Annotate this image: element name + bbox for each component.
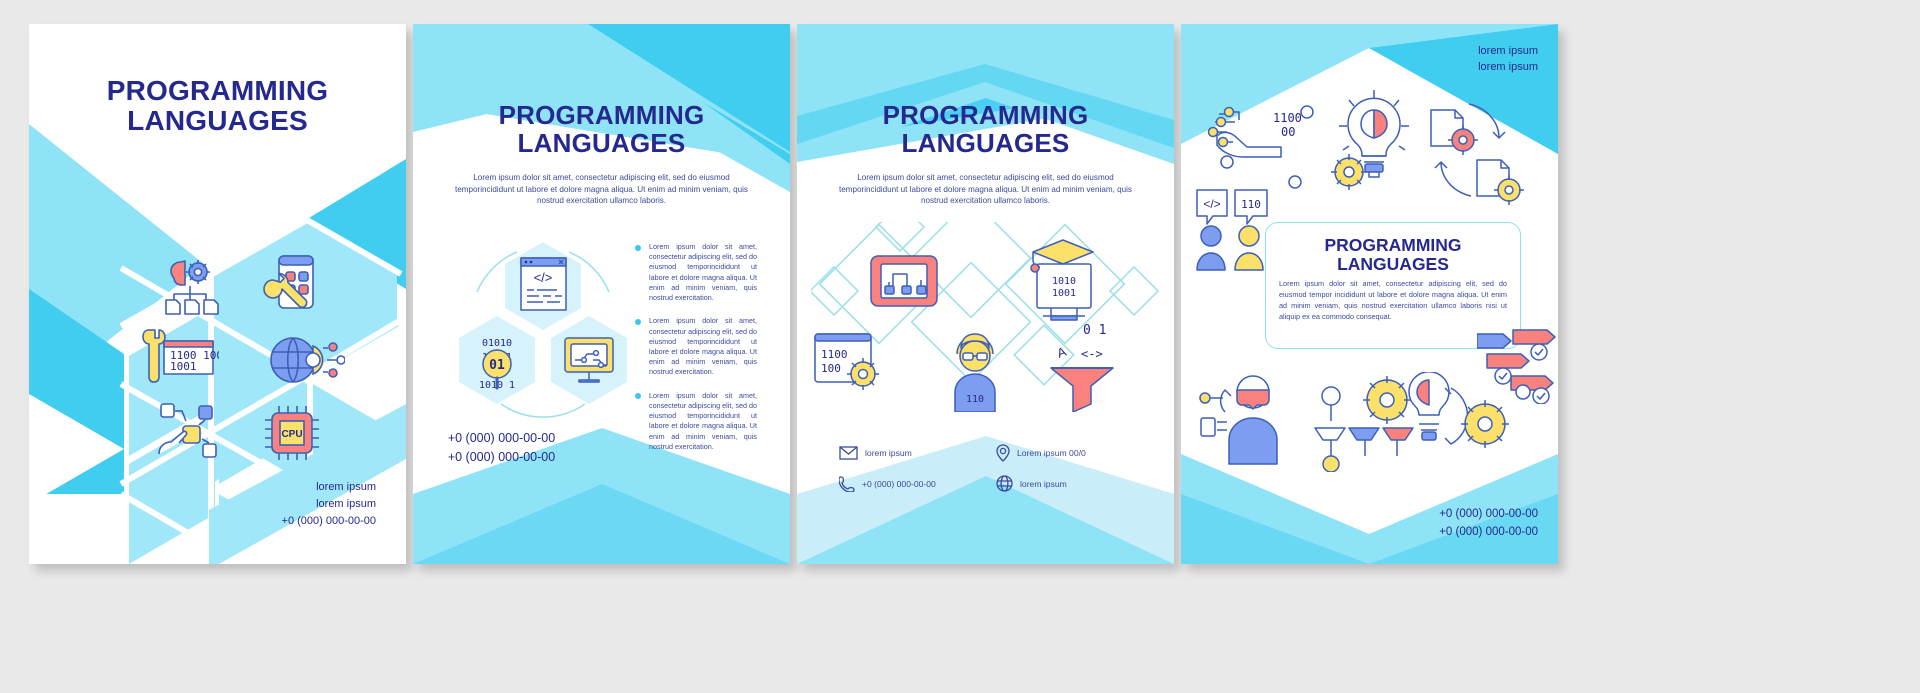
contact-address-label: Lorem ipsum 00/0 — [1017, 448, 1086, 458]
card-title: PROGRAMMING LANGUAGES — [1276, 236, 1510, 273]
lead-paragraph: Lorem ipsum dolor sit amet, consectetur … — [835, 172, 1136, 207]
panel-contacts[interactable]: PROGRAMMING LANGUAGES Lorem ipsum dolor … — [797, 24, 1174, 564]
card-title-line-2: LANGUAGES — [1337, 254, 1449, 274]
card-footer: +0 (000) 000-00-00 +0 (000) 000-00-00 — [1439, 506, 1538, 542]
globe-gear-icon — [267, 332, 345, 390]
page-title: PROGRAMMING LANGUAGES — [29, 76, 406, 135]
list-item: Lorem ipsum dolor sit amet, consectetur … — [635, 242, 757, 303]
title-line-2: LANGUAGES — [902, 128, 1070, 158]
binary-monitor-2: 1001 — [1052, 288, 1076, 299]
panel-cover[interactable]: PROGRAMMING LANGUAGES — [29, 24, 406, 564]
panel-bullets[interactable]: PROGRAMMING LANGUAGES Lorem ipsum dolor … — [413, 24, 790, 564]
title-line-1: PROGRAMMING — [107, 75, 329, 106]
cpu-label: CPU — [281, 429, 302, 440]
footer-line-2: lorem ipsum — [282, 496, 376, 513]
contact-phone[interactable]: +0 (000) 000-00-00 — [839, 475, 982, 492]
lead-paragraph: Lorem ipsum dolor sit amet, consectetur … — [451, 172, 752, 207]
brochure-sheet: PROGRAMMING LANGUAGES — [0, 0, 1920, 693]
contact-website-label: lorem ipsum — [1020, 479, 1067, 489]
title-line-2: LANGUAGES — [127, 105, 308, 136]
phone-numbers: +0 (000) 000-00-00 +0 (000) 000-00-00 — [413, 429, 690, 467]
top-note-line-1: lorem ipsum — [1478, 44, 1538, 60]
top-note-line-2: lorem ipsum — [1478, 60, 1538, 76]
top-note: lorem ipsum lorem ipsum — [1478, 44, 1538, 76]
bullet-dot-icon — [635, 245, 641, 251]
funnel-binary-label: 0 1 — [1083, 323, 1106, 338]
hex-trio-diagram: </> 01010 10 01 1010 1 01 — [453, 234, 633, 419]
binary-left-2: 100 — [821, 362, 841, 375]
binary-line-2: 1001 — [170, 360, 197, 373]
footer-phone-2: +0 (000) 000-00-00 — [1439, 524, 1538, 542]
list-item: Lorem ipsum dolor sit amet, consectetur … — [635, 316, 757, 377]
footer-phone-1: +0 (000) 000-00-00 — [1439, 506, 1538, 524]
diamond-icon-grid: 1010 1001 1100 100 — [811, 222, 1161, 412]
bullet-dot-icon — [635, 319, 641, 325]
svg-text:01010: 01010 — [482, 338, 512, 349]
contact-email[interactable]: lorem ipsum — [839, 444, 982, 462]
footer-phone: +0 (000) 000-00-00 — [282, 513, 376, 530]
binary-left-1: 1100 — [821, 348, 848, 361]
footer-line-1: lorem ipsum — [282, 479, 376, 496]
list-item-text: Lorem ipsum dolor sit amet, consectetur … — [649, 316, 757, 376]
contact-address[interactable]: Lorem ipsum 00/0 — [996, 444, 1139, 462]
hand-binary-label-1: 1100 — [1273, 111, 1302, 125]
brain-bulb-gear-icon — [1407, 372, 1537, 467]
map-pin-icon — [996, 444, 1010, 462]
contact-email-label: lorem ipsum — [865, 448, 912, 458]
panel-card[interactable]: lorem ipsum lorem ipsum 1100 00 — [1181, 24, 1558, 564]
bullet-dot-icon — [635, 393, 641, 399]
cover-footer: lorem ipsum lorem ipsum +0 (000) 000-00-… — [282, 479, 376, 530]
phone-2: +0 (000) 000-00-00 — [413, 448, 690, 467]
click-flowchart-icon — [157, 402, 227, 464]
page-title: PROGRAMMING LANGUAGES — [413, 102, 790, 157]
funnel-a-label: A — [1055, 344, 1069, 361]
cpu-chip-icon: CPU — [261, 402, 323, 464]
contact-website[interactable]: lorem ipsum — [996, 475, 1139, 492]
contact-phone-label: +0 (000) 000-00-00 — [862, 479, 936, 489]
contact-block: lorem ipsum Lorem ipsum 00/0 +0 (000) 00… — [839, 444, 1139, 492]
mobile-wrench-icon — [257, 252, 319, 318]
title-line-2: LANGUAGES — [518, 128, 686, 158]
binary-bubble-label: 110 — [1241, 198, 1261, 211]
svg-text:01: 01 — [489, 358, 505, 373]
globe-icon — [996, 475, 1013, 492]
vr-user-icon — [1195, 364, 1315, 469]
page-title: PROGRAMMING LANGUAGES — [797, 102, 1174, 157]
wrench-binary-icon: 1100 1001 1001 — [137, 324, 219, 386]
card-body: Lorem ipsum dolor sit amet, consectetur … — [1279, 279, 1507, 323]
list-item-text: Lorem ipsum dolor sit amet, consectetur … — [649, 242, 757, 302]
funnel-arrow-label: <-> — [1081, 347, 1103, 361]
phone-1: +0 (000) 000-00-00 — [413, 429, 690, 448]
avatar-binary-label: 110 — [966, 394, 984, 405]
hand-binary-label-2: 00 — [1281, 125, 1295, 139]
envelope-icon — [839, 446, 858, 460]
gear-nodes-icon — [1309, 372, 1419, 472]
brain-gear-icon — [157, 256, 223, 318]
title-line-1: PROGRAMMING — [499, 100, 705, 130]
code-bubble-label: </> — [1203, 197, 1220, 211]
phone-icon — [839, 475, 855, 492]
code-glyph: </> — [534, 270, 553, 285]
title-line-1: PROGRAMMING — [883, 100, 1089, 130]
card-title-line-1: PROGRAMMING — [1324, 235, 1461, 255]
binary-monitor-1: 1010 — [1052, 276, 1076, 287]
